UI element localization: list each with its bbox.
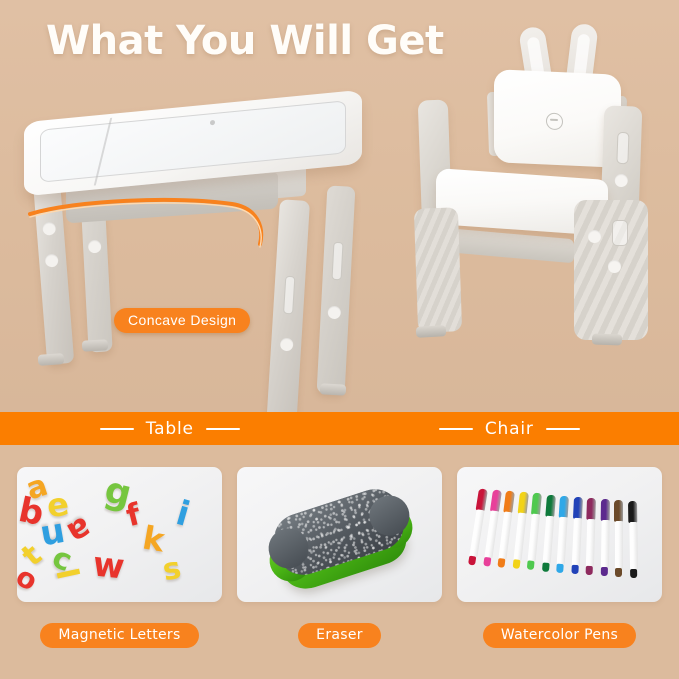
magnetic-letter: k [140,521,167,556]
pen-body [615,521,623,569]
magnetic-letter: f [124,500,144,532]
pen-tip [556,563,564,572]
divider-dash-left [439,428,473,430]
divider-section-table: Table [0,419,340,439]
pen-tip [586,566,593,575]
watercolor-pen [540,494,555,576]
watercolor-pen [584,498,596,580]
infographic-page: What You Will Get [0,0,679,679]
pen-body [498,512,512,561]
pen-cap [600,499,609,521]
pen-cap [628,501,637,523]
pen-body [542,515,554,563]
watercolor-pen [525,493,542,575]
pen-body [585,519,595,567]
pen-body [469,509,484,558]
watercolor-pen [570,496,583,578]
magnetic-letter: o [17,562,42,596]
pen-cap [545,494,556,517]
pen-body [527,514,539,563]
chair-foot [592,333,622,345]
divider-dash-left [100,428,134,430]
chair-side-panel-left [414,207,462,332]
pen-cap [489,489,501,512]
eraser-image [273,495,413,581]
divider-label-table: Table [146,419,194,439]
label-cell-eraser: Eraser [237,622,442,648]
concave-callout-line [18,82,378,382]
chair-cross-bar [454,229,574,263]
section-divider-band: Table Chair [0,412,679,445]
pen-body [556,516,567,564]
pen-tip [483,557,491,567]
chair-foot [416,325,447,338]
pen-cap [531,493,542,516]
pen-tip [527,561,535,571]
page-title: What You Will Get [46,18,444,64]
pen-tip [497,558,505,568]
pen-cap [614,500,623,522]
kids-table-image: Concave Design [18,82,378,382]
label-cell-watercolor-pens: Watercolor Pens [457,622,662,648]
magnetic-letter: i [173,496,194,532]
brand-logo-icon [546,112,563,130]
chair-knob-icon [608,260,621,273]
watercolor-pen [599,499,609,581]
label-cell-magnetic-letters: Magnetic Letters [17,622,222,648]
pen-tip [512,560,520,570]
height-slot-icon [612,220,628,246]
pen-tip [468,556,476,566]
magnetic-letter: s [161,554,184,587]
watercolor-pen [555,495,569,577]
pen-body [571,517,581,565]
accessory-label-magnetic-letters: Magnetic Letters [40,623,198,648]
pen-body [483,510,498,559]
pen-tip [615,568,622,577]
pen-cap [476,488,488,511]
height-slot-icon [616,132,629,164]
accessory-card-magnetic-letters: abegfnactlwkiso [17,467,222,602]
hero-section: What You Will Get [0,0,679,412]
watercolor-pen [628,501,638,583]
chair-side-panel-right [574,200,648,340]
pen-cap [572,496,582,518]
pen-body [600,520,609,568]
divider-section-chair: Chair [340,419,679,439]
divider-dash-right [546,428,580,430]
pen-tip [600,567,607,576]
accessory-label-watercolor-pens: Watercolor Pens [483,623,636,648]
accessory-label-row: Magnetic Letters Eraser Watercolor Pens [17,622,662,648]
magnetic-letter: w [91,547,126,584]
accessory-card-watercolor-pens [457,467,662,602]
accessory-label-eraser: Eraser [298,623,381,648]
pen-body [512,513,525,562]
divider-label-chair: Chair [485,419,534,439]
accessory-card-row: abegfnactlwkiso [17,467,662,602]
pen-cap [559,495,569,518]
pen-cap [586,498,596,520]
table-foot [320,383,347,395]
pen-tip [571,564,578,573]
chair-knob-icon [615,174,628,187]
accessory-card-eraser [237,467,442,602]
kids-chair-image [396,22,662,352]
pen-cap [503,491,515,514]
chair-knob-icon [588,230,601,243]
pen-body [628,522,637,570]
pen-tip [630,569,637,578]
pen-tip [541,562,549,572]
pen-cap [517,492,528,515]
divider-dash-right [206,428,240,430]
concave-design-callout: Concave Design [114,308,250,333]
watercolor-pen [614,500,623,582]
